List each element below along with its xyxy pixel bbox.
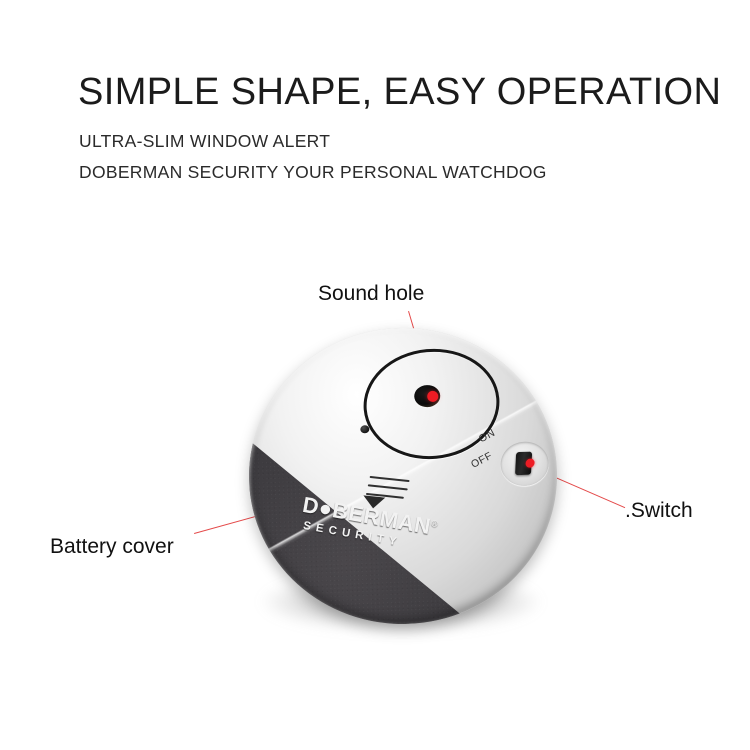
page-title: SIMPLE SHAPE, EASY OPERATION: [78, 70, 721, 114]
registered-trademark-icon: ®: [431, 518, 440, 529]
subtitle-line-2: DOBERMAN SECURITY YOUR PERSONAL WATCHDOG: [79, 161, 547, 183]
callout-label-switch: .Switch: [625, 498, 693, 524]
callout-label-battery-cover: Battery cover: [50, 534, 174, 560]
ridge-line: [370, 476, 410, 482]
product-device-alarm: ON OFF D●BERMAN® SECURITY: [243, 322, 563, 638]
product-infographic: SIMPLE SHAPE, EASY OPERATION ULTRA-SLIM …: [0, 0, 750, 750]
ridge-line: [368, 484, 408, 490]
device-body-disc: ON OFF D●BERMAN® SECURITY: [244, 323, 562, 630]
callout-label-sound-hole: Sound hole: [318, 281, 424, 307]
switch-toggle[interactable]: [515, 452, 532, 476]
subtitle-line-1: ULTRA-SLIM WINDOW ALERT: [79, 130, 330, 152]
